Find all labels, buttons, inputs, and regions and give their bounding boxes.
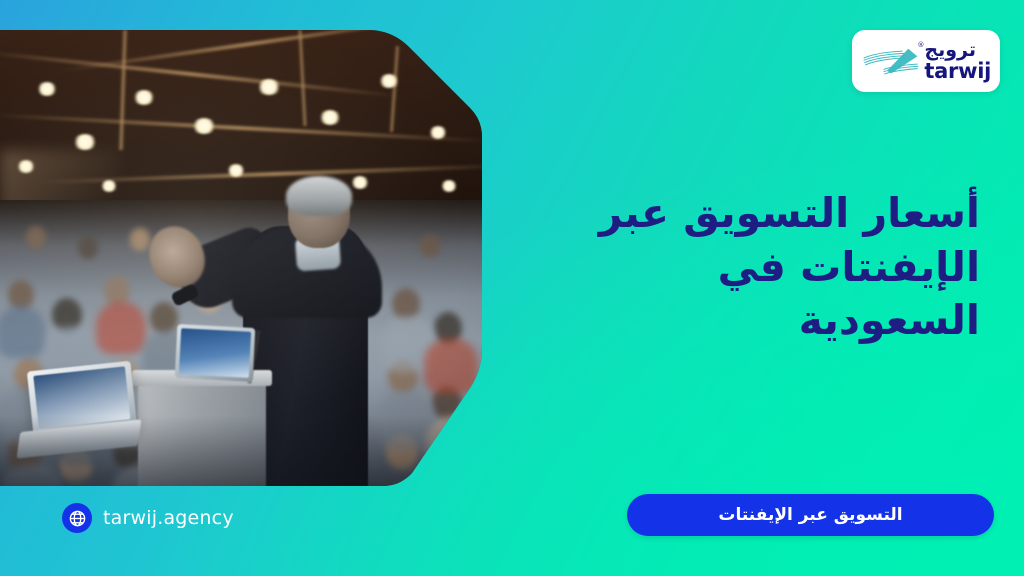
headline-line-2: الإيفنتات في bbox=[718, 243, 980, 291]
page-title: أسعار التسويق عبر الإيفنتات في السعودية bbox=[528, 187, 980, 347]
website-handle[interactable]: tarwij.agency bbox=[62, 503, 234, 533]
headline-line-1: أسعار التسويق عبر bbox=[599, 189, 980, 237]
headline-line-3: السعودية bbox=[799, 296, 980, 344]
logo-latin-wordmark: tarwij bbox=[924, 61, 991, 82]
cta-button[interactable]: التسويق عبر الإيفنتات bbox=[627, 494, 994, 536]
swoosh-icon bbox=[861, 41, 920, 81]
logo-arabic-wordmark: ® ترويج bbox=[924, 41, 976, 60]
cta-button-label: التسويق عبر الإيفنتات bbox=[718, 505, 902, 525]
website-url-text: tarwij.agency bbox=[103, 507, 234, 529]
conference-speaker-photo bbox=[0, 30, 482, 486]
registered-trademark-icon: ® bbox=[917, 42, 925, 49]
logo-arabic-text: ترويج bbox=[924, 39, 976, 61]
globe-icon bbox=[62, 503, 92, 533]
tarwij-logo[interactable]: ® ترويج tarwij bbox=[852, 30, 1000, 92]
logo-wordmark: ® ترويج tarwij bbox=[924, 41, 991, 82]
photo-color-grade bbox=[0, 30, 482, 486]
social-card: ® ترويج tarwij أسعار التسويق عبر الإيفنت… bbox=[0, 0, 1024, 576]
